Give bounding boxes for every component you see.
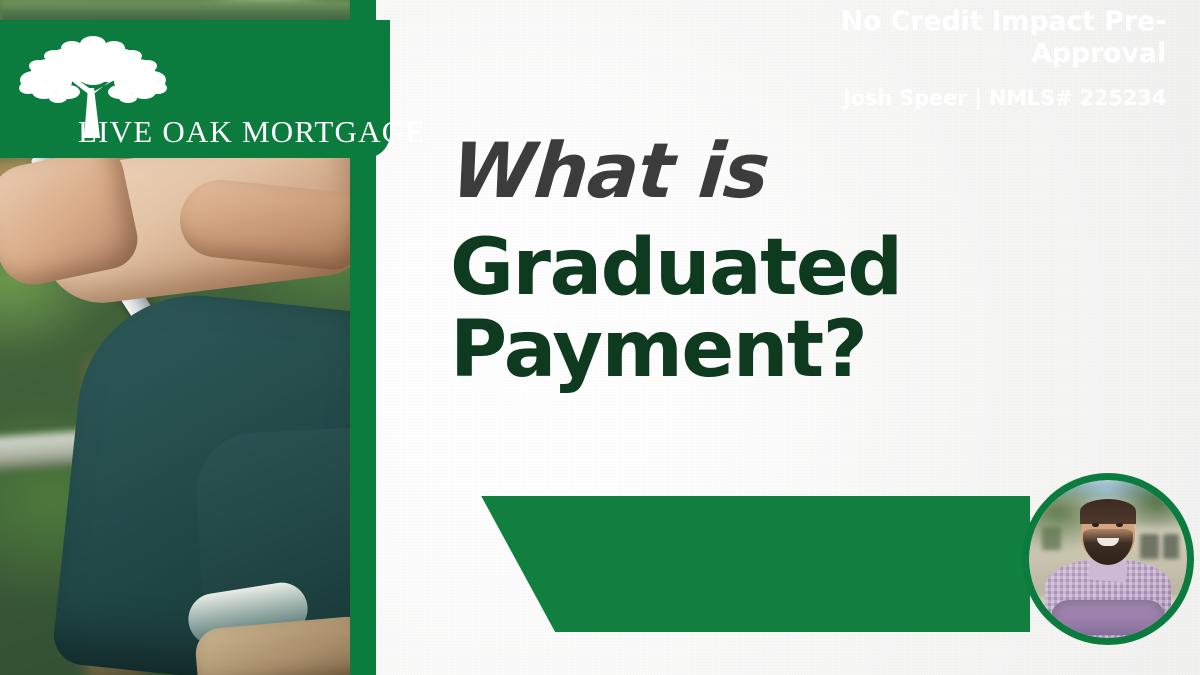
headline-kicker: What is xyxy=(448,126,772,215)
cta-text-group: No Credit Impact Pre-Approval Josh Speer… xyxy=(806,6,1166,110)
slide-canvas: LIVE OAK MORTGAGE What is Graduated Paym… xyxy=(0,0,1200,675)
cta-title: No Credit Impact Pre-Approval xyxy=(806,6,1166,70)
avatar xyxy=(1022,473,1194,645)
headshot-window xyxy=(1163,534,1179,559)
page-title: Graduated Payment? xyxy=(450,228,1070,392)
headline-line-1: Graduated xyxy=(450,228,1070,310)
headshot-hair xyxy=(1080,499,1137,524)
cta-banner[interactable] xyxy=(470,496,1030,632)
headline-line-2: Payment? xyxy=(450,310,1070,392)
headshot-window xyxy=(1140,534,1159,559)
logo-banner: LIVE OAK MORTGAGE xyxy=(0,20,390,158)
headshot-crossed-arms xyxy=(1051,600,1165,635)
cta-byline: Josh Speer | NMLS# 225234 xyxy=(806,86,1166,110)
headshot-smile xyxy=(1097,538,1119,546)
brand-wordmark: LIVE OAK MORTGAGE xyxy=(78,114,425,150)
headshot-photo xyxy=(1029,480,1187,638)
